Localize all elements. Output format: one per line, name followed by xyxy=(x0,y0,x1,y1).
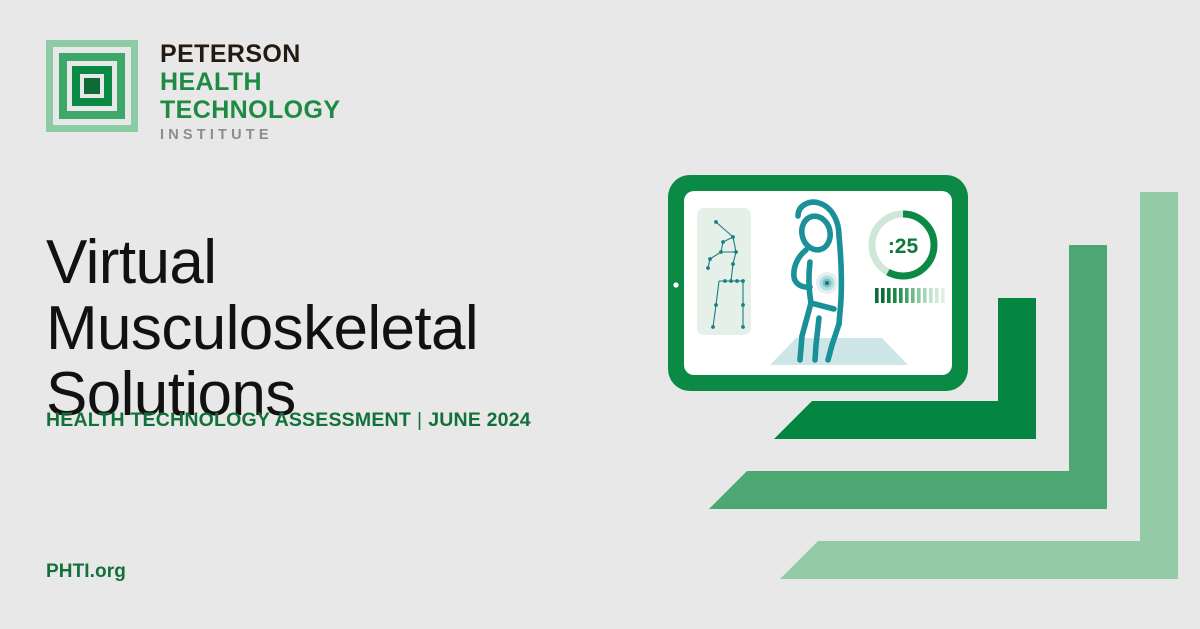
tablet-device: :25 xyxy=(668,175,968,391)
logo-wordmark: PETERSON HEALTH TECHNOLOGY INSTITUTE xyxy=(160,40,340,143)
phti-logo[interactable]: PETERSON HEALTH TECHNOLOGY INSTITUTE xyxy=(46,40,340,143)
subtitle-separator: | xyxy=(411,409,428,431)
page-title: Virtual Musculoskeletal Solutions xyxy=(46,230,566,429)
subtitle-date: JUNE 2024 xyxy=(428,409,531,431)
cover-page: :25 xyxy=(0,0,1200,629)
cover-illustration: :25 xyxy=(620,0,1200,629)
pain-marker-icon xyxy=(816,272,838,294)
timer-value-text: :25 xyxy=(888,235,919,258)
website-link[interactable]: PHTI.org xyxy=(46,561,126,583)
subtitle-assessment-label: HEALTH TECHNOLOGY ASSESSMENT xyxy=(46,409,411,431)
logo-line-institute: INSTITUTE xyxy=(160,128,340,143)
pose-tracking-panel xyxy=(697,208,751,335)
tablet-camera-dot xyxy=(673,282,678,287)
logo-ring-core xyxy=(84,78,100,94)
page-title-line-2: Musculoskeletal xyxy=(46,296,566,362)
page-title-line-1: Virtual xyxy=(46,230,566,296)
figure-torso-right xyxy=(839,236,841,324)
logo-line-technology: TECHNOLOGY xyxy=(160,98,340,123)
logo-line-health: HEALTH xyxy=(160,70,340,95)
logo-line-peterson: PETERSON xyxy=(160,42,340,67)
figure-torso-left xyxy=(809,262,811,303)
concentric-squares-logo-icon xyxy=(46,40,138,132)
report-subtitle: HEALTH TECHNOLOGY ASSESSMENT|JUNE 2024 xyxy=(46,409,531,432)
